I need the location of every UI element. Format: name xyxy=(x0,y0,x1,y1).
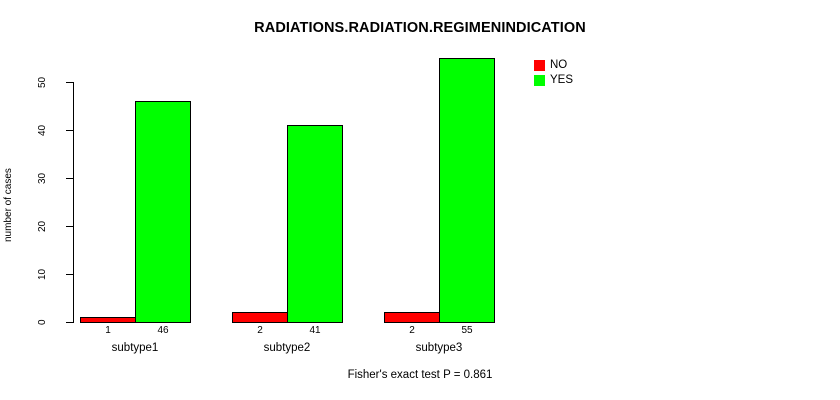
bar-value-subtype2-no: 2 xyxy=(232,324,288,337)
bar-value-subtype1-yes: 46 xyxy=(135,324,191,337)
group-baseline-subtype3 xyxy=(384,322,495,323)
bar-subtype2-yes[interactable] xyxy=(287,125,343,323)
legend-swatch-no-icon xyxy=(534,60,545,71)
x-axis-label-subtype3: subtype3 xyxy=(369,341,509,355)
bar-value-subtype3-no: 2 xyxy=(384,324,440,337)
statistical-test-annotation: Fisher's exact test P = 0.861 xyxy=(0,369,840,381)
legend-swatch-yes-icon xyxy=(534,75,545,86)
legend-label-yes: YES xyxy=(550,74,573,87)
legend-item-yes[interactable]: YES xyxy=(534,73,654,88)
plot-area xyxy=(0,0,840,400)
bar-subtype1-yes[interactable] xyxy=(135,101,191,323)
x-axis-label-subtype2: subtype2 xyxy=(217,341,357,355)
legend-item-no[interactable]: NO xyxy=(534,58,654,73)
bar-chart-figure: RADIATIONS.RADIATION.REGIMENINDICATION n… xyxy=(0,0,840,400)
x-axis-label-subtype1: subtype1 xyxy=(65,341,205,355)
legend-label-no: NO xyxy=(550,59,567,72)
bar-value-subtype3-yes: 55 xyxy=(439,324,495,337)
legend: NO YES xyxy=(534,58,654,88)
bar-value-subtype1-no: 1 xyxy=(80,324,136,337)
group-baseline-subtype2 xyxy=(232,322,343,323)
group-baseline-subtype1 xyxy=(80,322,191,323)
bar-subtype3-yes[interactable] xyxy=(439,58,495,323)
bar-value-subtype2-yes: 41 xyxy=(287,324,343,337)
